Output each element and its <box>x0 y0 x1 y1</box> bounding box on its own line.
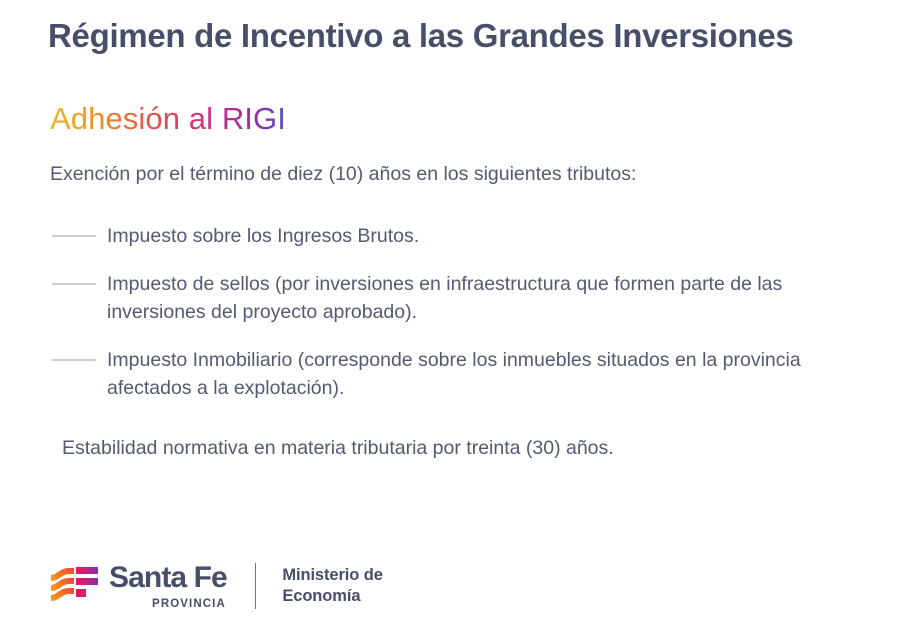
list-item: Impuesto Inmobiliario (corresponde sobre… <box>50 346 850 402</box>
slide-subtitle: Adhesión al RIGI <box>50 99 286 139</box>
footer: Santa Fe PROVINCIA Ministerio de Economí… <box>50 562 383 610</box>
ministry-line-1: Ministerio de <box>282 565 382 586</box>
closing-paragraph: Estabilidad normativa en materia tributa… <box>62 434 852 462</box>
list-item-label: Impuesto de sellos (por inversiones en i… <box>107 273 782 323</box>
intro-paragraph: Exención por el término de diez (10) año… <box>50 160 850 188</box>
ministry-line-2: Economía <box>282 586 382 607</box>
brand-name: Santa Fe <box>109 563 227 593</box>
dash-bullet-icon <box>52 283 96 285</box>
dash-bullet-icon <box>52 235 96 237</box>
santa-fe-wordmark: Santa Fe PROVINCIA <box>109 561 227 611</box>
list-item: Impuesto sobre los Ingresos Brutos. <box>50 222 850 250</box>
santa-fe-brand: Santa Fe PROVINCIA <box>50 561 227 611</box>
ministry-label: Ministerio de Economía <box>282 565 382 607</box>
santa-fe-flag-logo-icon <box>50 563 100 603</box>
list-item: Impuesto de sellos (por inversiones en i… <box>50 270 850 326</box>
list-item-label: Impuesto sobre los Ingresos Brutos. <box>107 225 419 247</box>
page-title: Régimen de Incentivo a las Grandes Inver… <box>48 16 888 56</box>
brand-subtitle: PROVINCIA <box>152 597 226 611</box>
footer-divider <box>255 563 257 609</box>
tax-exemption-list: Impuesto sobre los Ingresos Brutos. Impu… <box>50 222 850 402</box>
list-item-label: Impuesto Inmobiliario (corresponde sobre… <box>107 349 801 399</box>
slide-canvas: Régimen de Incentivo a las Grandes Inver… <box>0 0 900 622</box>
dash-bullet-icon <box>52 359 96 361</box>
